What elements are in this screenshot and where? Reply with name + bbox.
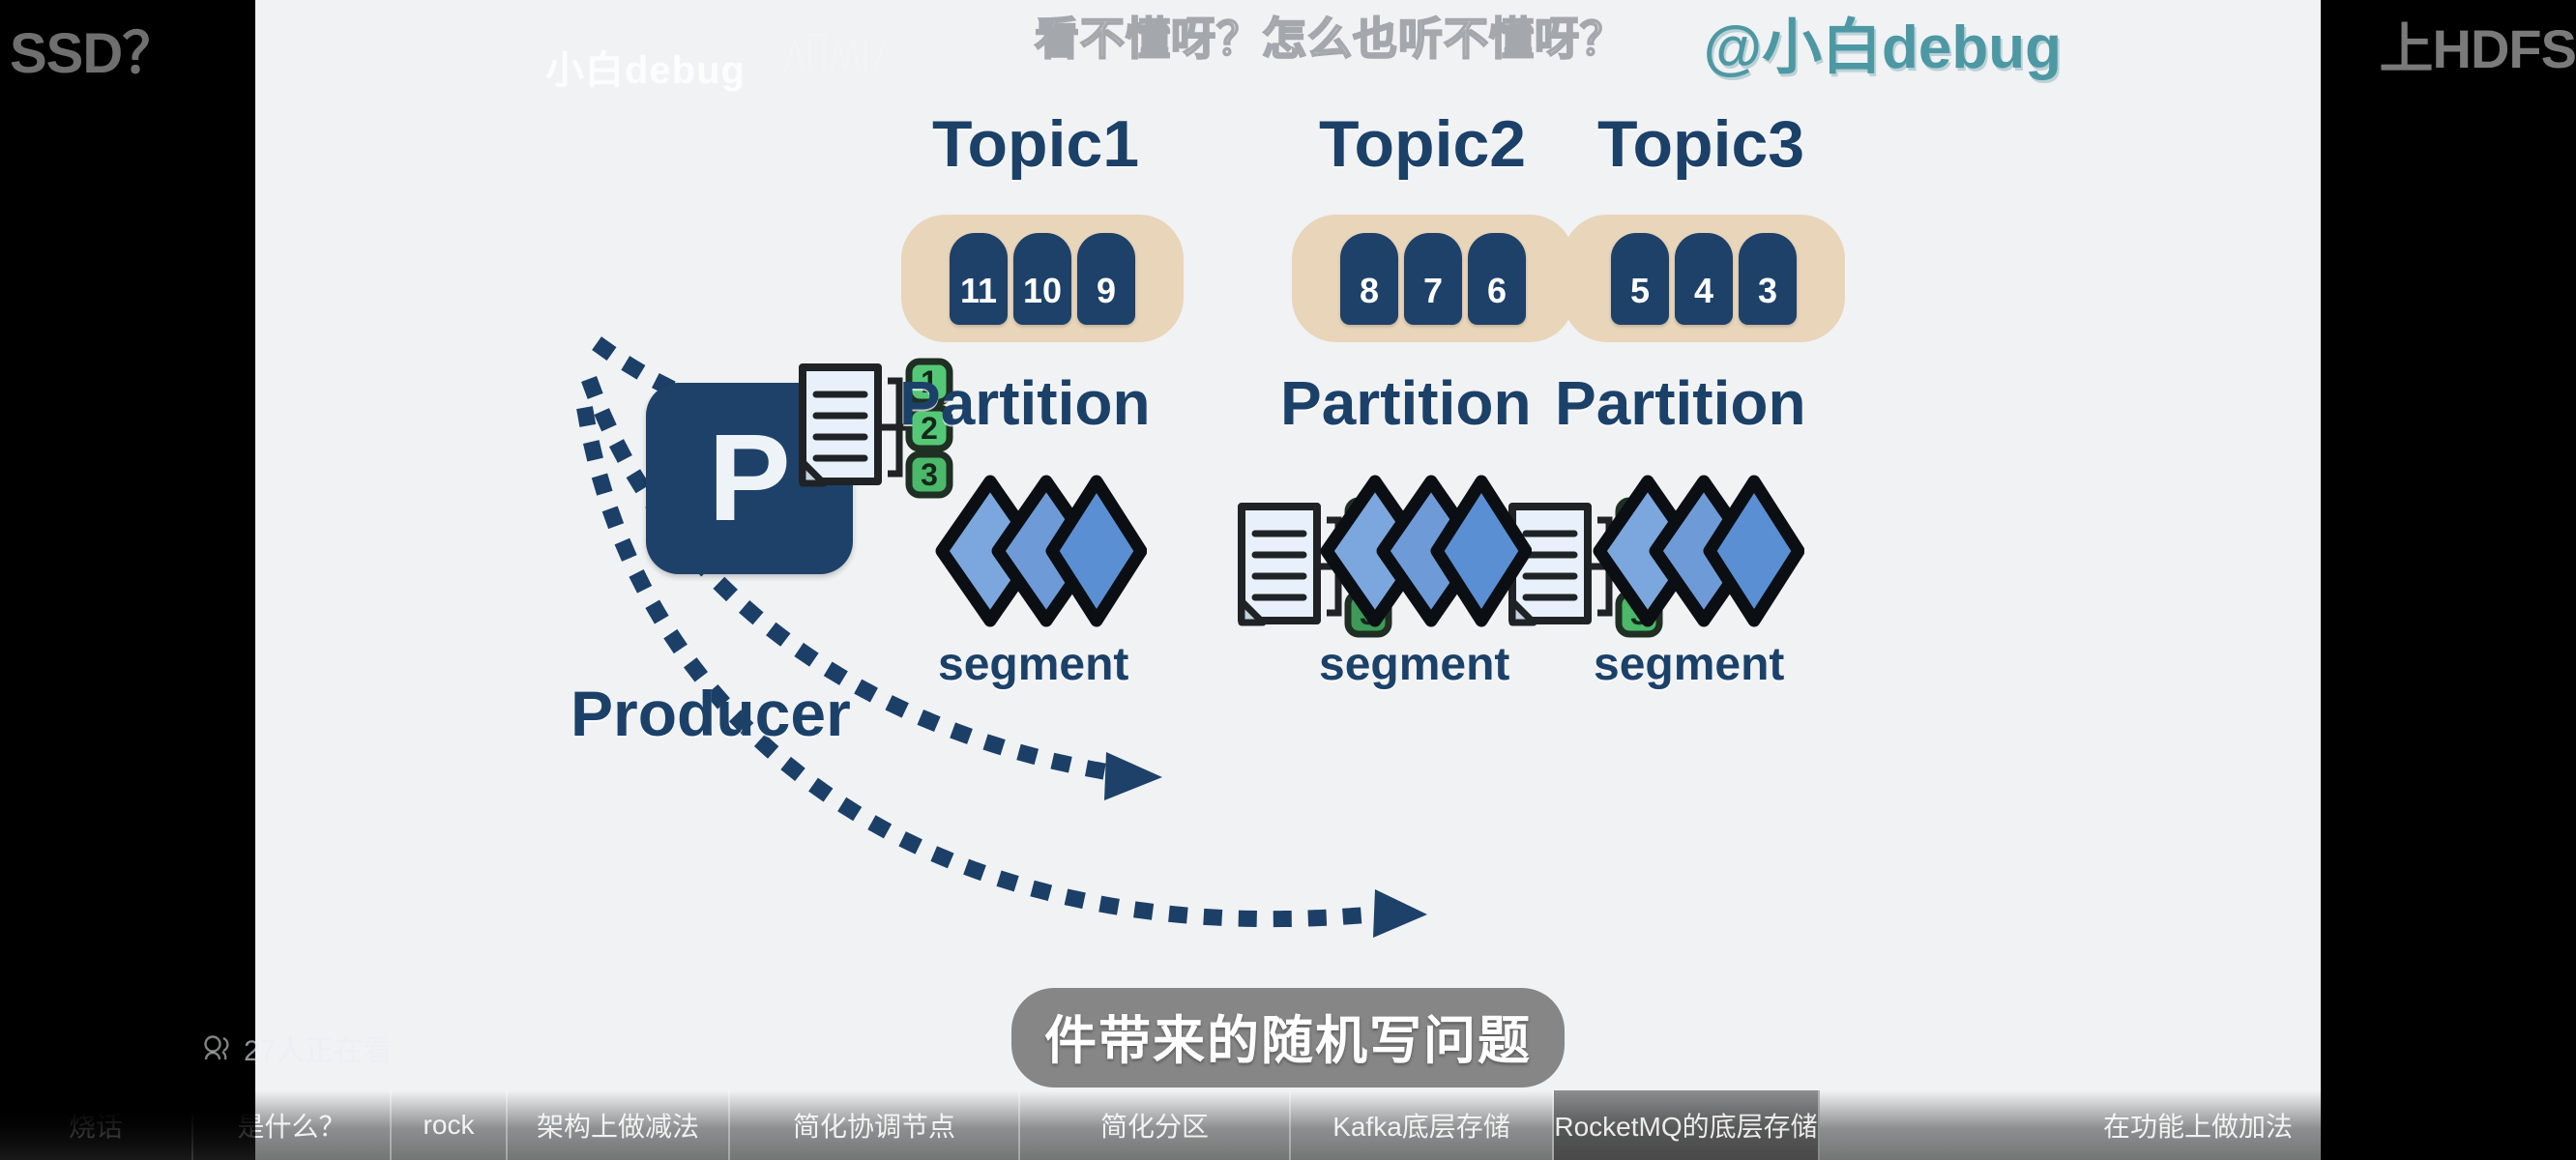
- viewer-count: 27人正在看: [201, 1027, 392, 1069]
- segment-diamonds-icon: [932, 474, 1147, 628]
- partition-label: Partition: [1280, 367, 1532, 439]
- chapter-label: 在功能上做加法: [2103, 1106, 2293, 1145]
- partition-label: Partition: [899, 367, 1151, 439]
- segment-label: segment: [938, 638, 1128, 691]
- topic-title: Topic2: [1319, 106, 1526, 182]
- video-canvas[interactable]: 小白debug 看不懂呀？怎么也听不懂呀？ @小白debug .dot { st…: [255, 0, 2321, 1160]
- chapter-label: 简化分区: [1100, 1106, 1209, 1145]
- subtitle-bar: 件带来的随机写问题: [1011, 988, 1565, 1087]
- chapter-label: 架构上做减法: [537, 1106, 699, 1145]
- segment-diamonds-icon: [1590, 474, 1804, 628]
- chapter-progress-bar[interactable]: 烧话是什么？rock架构上做减法简化协调节点简化分区Kafka底层存储Rocke…: [0, 1090, 2576, 1160]
- people-icon: [201, 1034, 234, 1061]
- chapter-segment[interactable]: rock: [392, 1090, 508, 1160]
- partition-cell: 5: [1611, 233, 1669, 325]
- topic-title: Topic1: [932, 106, 1139, 182]
- producer-label: Producer: [571, 677, 851, 750]
- subtitle-text: 件带来的随机写问题: [1044, 998, 1532, 1074]
- segment-diamonds-icon: [1317, 474, 1532, 628]
- chapter-segment[interactable]: 简化协调节点: [730, 1090, 1020, 1160]
- partition-cell: 9: [1077, 233, 1135, 325]
- chapter-segment[interactable]: 架构上做减法: [508, 1090, 730, 1160]
- chapter-segment[interactable]: Kafka底层存储: [1291, 1090, 1554, 1160]
- segment-label: segment: [1319, 638, 1509, 691]
- chapter-label: Kafka底层存储: [1332, 1106, 1510, 1145]
- partition-cell: 8: [1340, 233, 1398, 325]
- danmaku-comment: 看不懂呀？怎么也听不懂呀？: [1035, 4, 1625, 68]
- bar-left-mask: [0, 1090, 255, 1160]
- chapter-label: rock: [424, 1110, 475, 1141]
- segment-label: segment: [1594, 638, 1784, 691]
- topic-title: Topic3: [1597, 106, 1804, 182]
- left-edge-text: SSD？: [10, 8, 177, 89]
- partition-cell: 6: [1468, 233, 1526, 325]
- chapter-label: 简化协调节点: [793, 1106, 955, 1145]
- partition-group: 8 7 6: [1292, 215, 1574, 342]
- partition-cell: 10: [1013, 233, 1071, 325]
- author-tag: @小白debug: [1704, 0, 2062, 85]
- bar-right-mask: [2321, 1090, 2576, 1160]
- viewer-count-label: 27人正在看: [244, 1027, 392, 1069]
- partition-cell: 4: [1675, 233, 1733, 325]
- partition-cell: 3: [1739, 233, 1797, 325]
- partition-label: Partition: [1555, 367, 1806, 439]
- channel-watermark: 小白debug: [545, 39, 746, 95]
- chapter-label: RocketMQ的底层存储: [1554, 1106, 1817, 1145]
- partition-cell: 11: [950, 233, 1008, 325]
- partition-cell: 7: [1404, 233, 1462, 325]
- right-edge-text: 上HDFS: [2380, 6, 2576, 84]
- partition-group: 5 4 3: [1563, 215, 1845, 342]
- partition-group: 11 10 9: [901, 215, 1184, 342]
- producer-letter: P: [708, 417, 790, 540]
- watermark-logo-icon: [777, 21, 893, 79]
- video-player: SSD？ 上HDFS 小白debug 看不懂呀？怎么也听不懂呀？ @小白debu…: [0, 0, 2576, 1160]
- chapter-segment[interactable]: RocketMQ的底层存储: [1554, 1090, 1820, 1160]
- chapter-segment[interactable]: 简化分区: [1020, 1090, 1291, 1160]
